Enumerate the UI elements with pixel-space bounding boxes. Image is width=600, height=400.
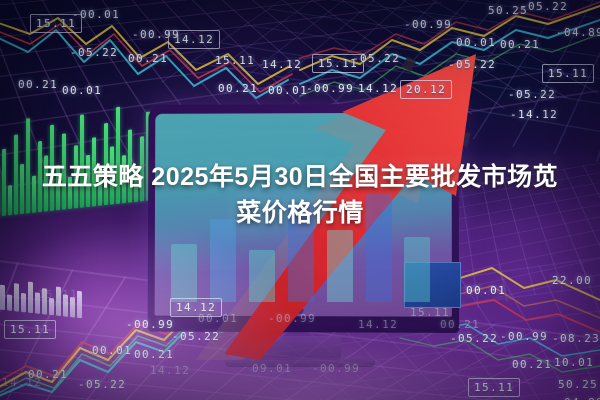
title-line-2: 菜价格行情 [14,196,586,232]
banner-image: 15.11-00.0114.12-05.2200.21-00.9900.2100… [0,0,600,400]
page-title: 五五策略 2025年5月30日全国主要批发市场苋 菜价格行情 [0,160,600,231]
title-line-1: 五五策略 2025年5月30日全国主要批发市场苋 [14,160,586,196]
